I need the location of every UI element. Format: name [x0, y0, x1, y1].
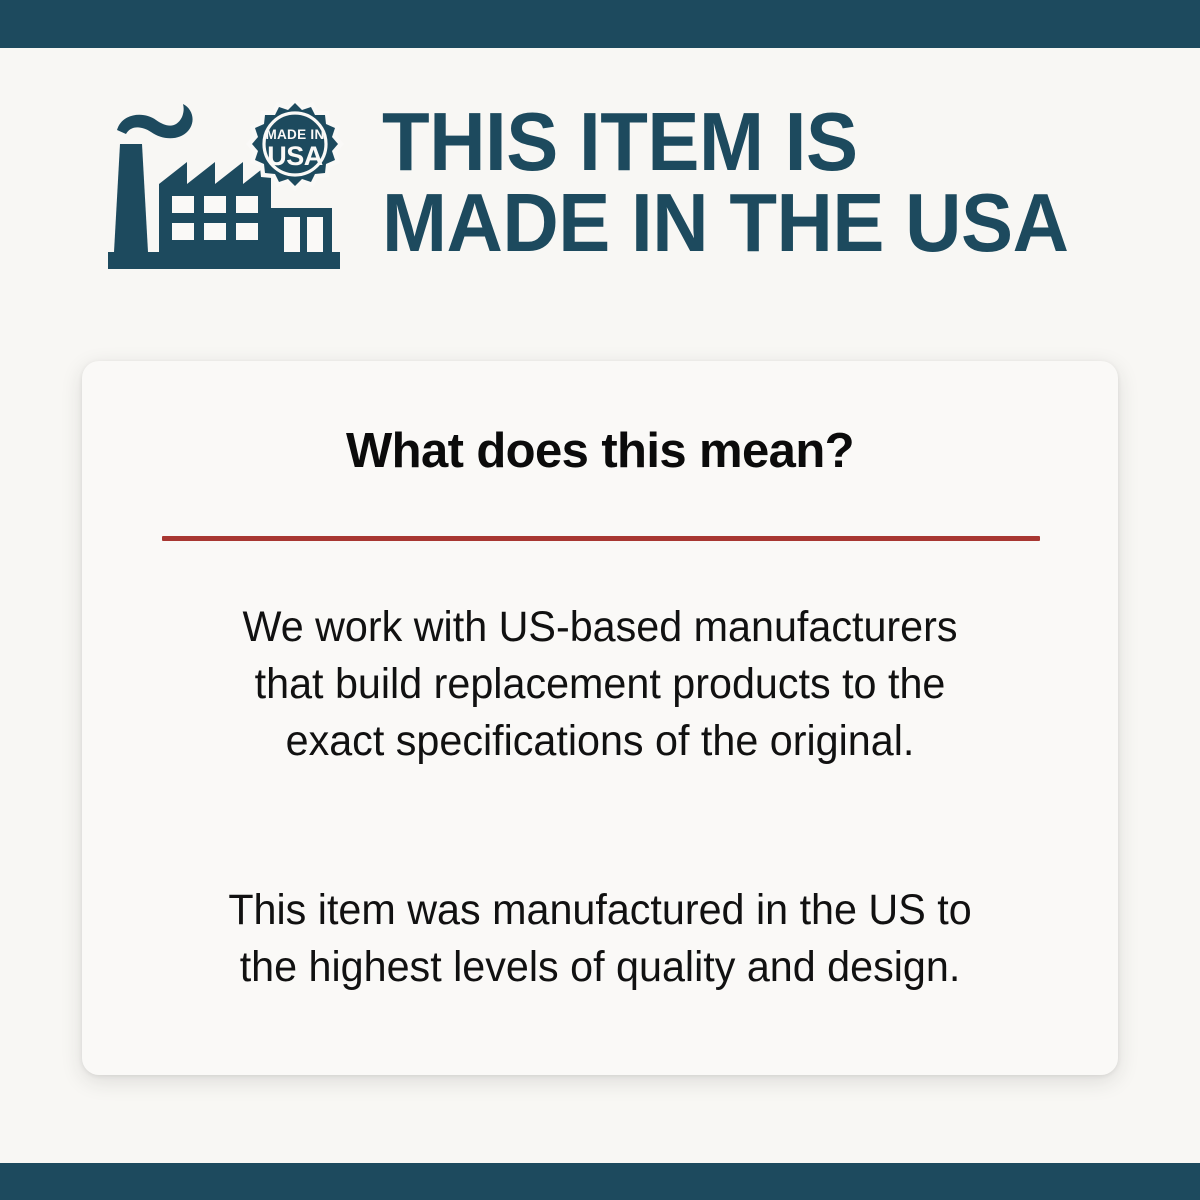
paragraph-one-line-1: We work with US-based manufacturers	[147, 599, 1053, 656]
factory-base-icon	[108, 252, 340, 269]
chimney-icon	[114, 144, 148, 252]
paragraph-two: This item was manufactured in the US to …	[147, 882, 1053, 996]
smoke-icon	[117, 104, 193, 138]
bottom-accent-band	[0, 1163, 1200, 1200]
info-card: What does this mean? We work with US-bas…	[82, 361, 1118, 1075]
paragraph-one: We work with US-based manufacturers that…	[147, 599, 1053, 771]
factory-icon: MADE IN USA	[104, 100, 344, 280]
svg-text:USA: USA	[267, 141, 323, 171]
page-title: THIS ITEM IS MADE IN THE USA	[382, 102, 1125, 263]
paragraph-one-line-2: that build replacement products to the	[147, 656, 1053, 713]
card-heading: What does this mean?	[82, 423, 1118, 479]
paragraph-two-line-1: This item was manufactured in the US to	[147, 882, 1053, 939]
headline-line-1: THIS ITEM IS	[382, 102, 1125, 183]
svg-text:MADE IN: MADE IN	[265, 127, 324, 142]
top-accent-band	[0, 0, 1200, 48]
paragraph-two-line-2: the highest levels of quality and design…	[147, 939, 1053, 996]
paragraph-one-line-3: exact specifications of the original.	[147, 713, 1053, 770]
heading-divider	[162, 536, 1040, 541]
header: MADE IN USA THIS ITEM IS MADE IN THE USA	[0, 52, 1200, 292]
headline-line-2: MADE IN THE USA	[382, 183, 1125, 264]
